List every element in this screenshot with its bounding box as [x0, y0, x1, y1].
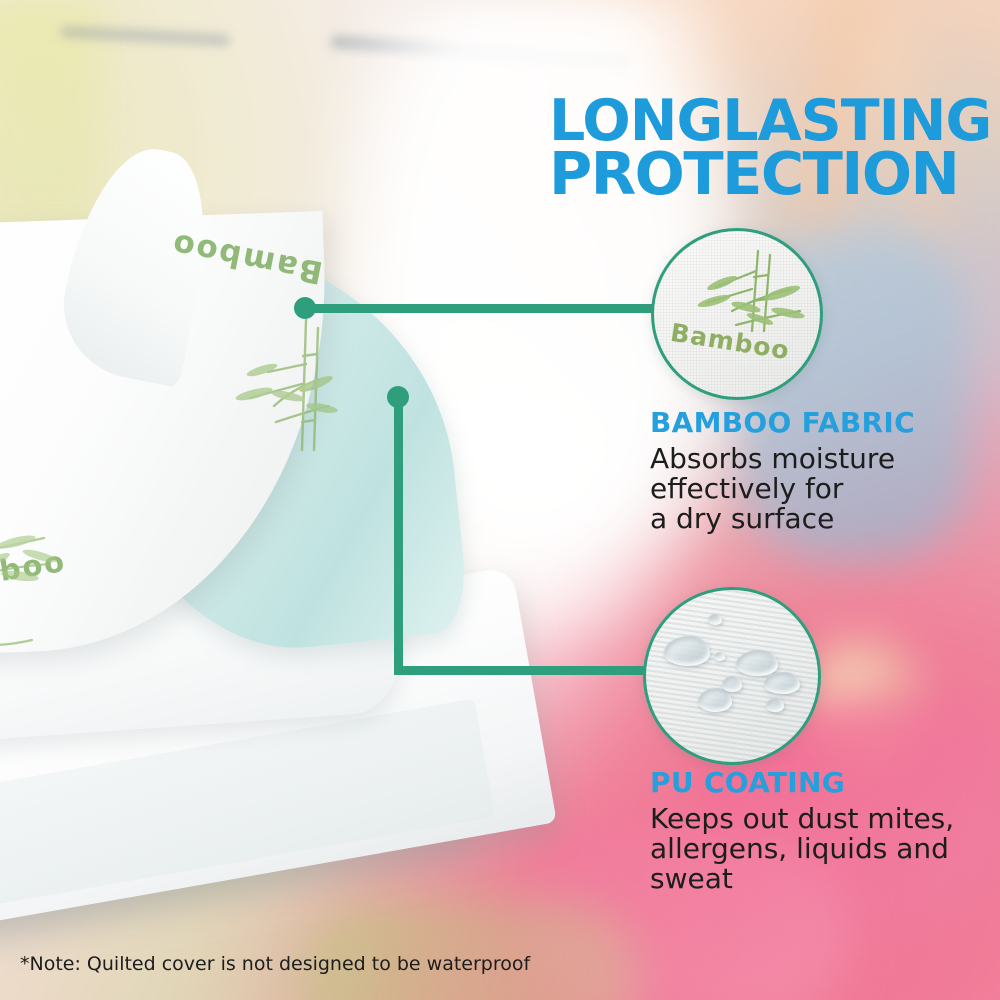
water-droplet	[766, 698, 784, 712]
water-droplet	[736, 650, 778, 676]
feature-title-pu-coating: PU COATING	[650, 766, 980, 799]
feature-title-bamboo-fabric: BAMBOO FABRIC	[650, 406, 980, 439]
feature-body-bamboo-fabric: Absorbs moisture effectively for a dry s…	[650, 444, 980, 535]
connector-dot-bamboo	[294, 297, 316, 319]
bamboo-illustration-icon	[210, 310, 360, 460]
feature-body-line: a dry surface	[650, 502, 834, 535]
headline-line-2: PROTECTION	[549, 147, 989, 201]
feature-bamboo-fabric: BAMBOO FABRIC Absorbs moisture effective…	[650, 406, 980, 535]
connector-line-bamboo	[305, 304, 657, 313]
product-infographic: Bamboo Bamboo	[0, 0, 1000, 1000]
water-droplet	[664, 636, 710, 666]
connector-dot-pu	[387, 386, 409, 408]
water-droplet	[708, 614, 722, 625]
callout-circle-pu-coating	[643, 587, 821, 765]
water-droplet	[698, 688, 732, 712]
connector-line-pu-vertical	[394, 396, 403, 674]
bamboo-illustration-secondary-icon	[0, 490, 90, 660]
product-image: Bamboo Bamboo	[0, 200, 560, 1000]
feature-body-line: Keeps out dust mites,	[650, 802, 954, 835]
footnote-note: *Note: Quilted cover is not designed to …	[20, 953, 530, 975]
feature-body-line: allergens, liquids and	[650, 832, 949, 865]
connector-line-pu-horizontal	[394, 666, 656, 675]
water-droplet	[722, 676, 742, 692]
callout-circle-bamboo-fabric: Bamboo	[651, 228, 823, 400]
feature-pu-coating: PU COATING Keeps out dust mites, allerge…	[650, 766, 980, 895]
water-droplet	[714, 652, 725, 661]
feature-body-line: Absorbs moisture	[650, 442, 895, 475]
feature-body-pu-coating: Keeps out dust mites, allergens, liquids…	[650, 804, 980, 895]
feature-body-line: effectively for	[650, 472, 843, 505]
headline: LONGLASTING PROTECTION	[549, 95, 989, 202]
feature-body-line: sweat	[650, 862, 733, 895]
water-droplet	[764, 672, 800, 694]
